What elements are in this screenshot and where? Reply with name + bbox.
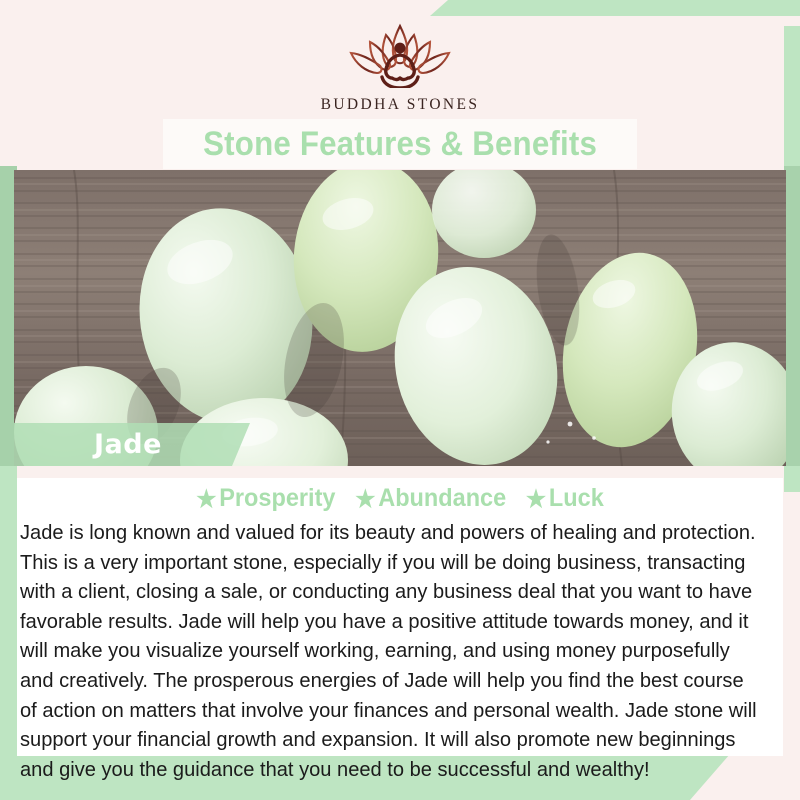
title-banner: Stone Features & Benefits xyxy=(163,119,637,169)
green-right-strip-shade-decoration xyxy=(784,166,800,466)
benefit-label: Prosperity xyxy=(219,484,335,512)
star-icon: ★ xyxy=(196,486,216,513)
benefit-luck: ★Luck xyxy=(526,484,604,514)
stone-info-card: BUDDHA STONES Stone Features & Benefits xyxy=(0,0,800,800)
stone-photo xyxy=(14,170,786,466)
benefits-row: ★Prosperity ★Abundance ★Luck xyxy=(40,478,760,514)
star-icon: ★ xyxy=(526,486,546,513)
green-top-band-decoration xyxy=(430,0,800,16)
page-title: Stone Features & Benefits xyxy=(203,125,597,164)
brand-logo: BUDDHA STONES xyxy=(0,22,800,114)
benefit-label: Abundance xyxy=(378,484,506,512)
brand-name: BUDDHA STONES xyxy=(0,96,800,114)
stone-name: Jade xyxy=(94,429,162,460)
benefit-label: Luck xyxy=(549,484,604,512)
star-icon: ★ xyxy=(355,486,375,513)
lotus-meditation-icon xyxy=(0,22,800,93)
content-panel: ★Prosperity ★Abundance ★Luck Jade is lon… xyxy=(17,478,783,756)
description-text: Jade is long known and valued for its be… xyxy=(20,518,762,784)
stone-name-label: Jade xyxy=(14,423,250,466)
benefit-prosperity: ★Prosperity xyxy=(196,484,335,514)
benefit-abundance: ★Abundance xyxy=(355,484,506,514)
